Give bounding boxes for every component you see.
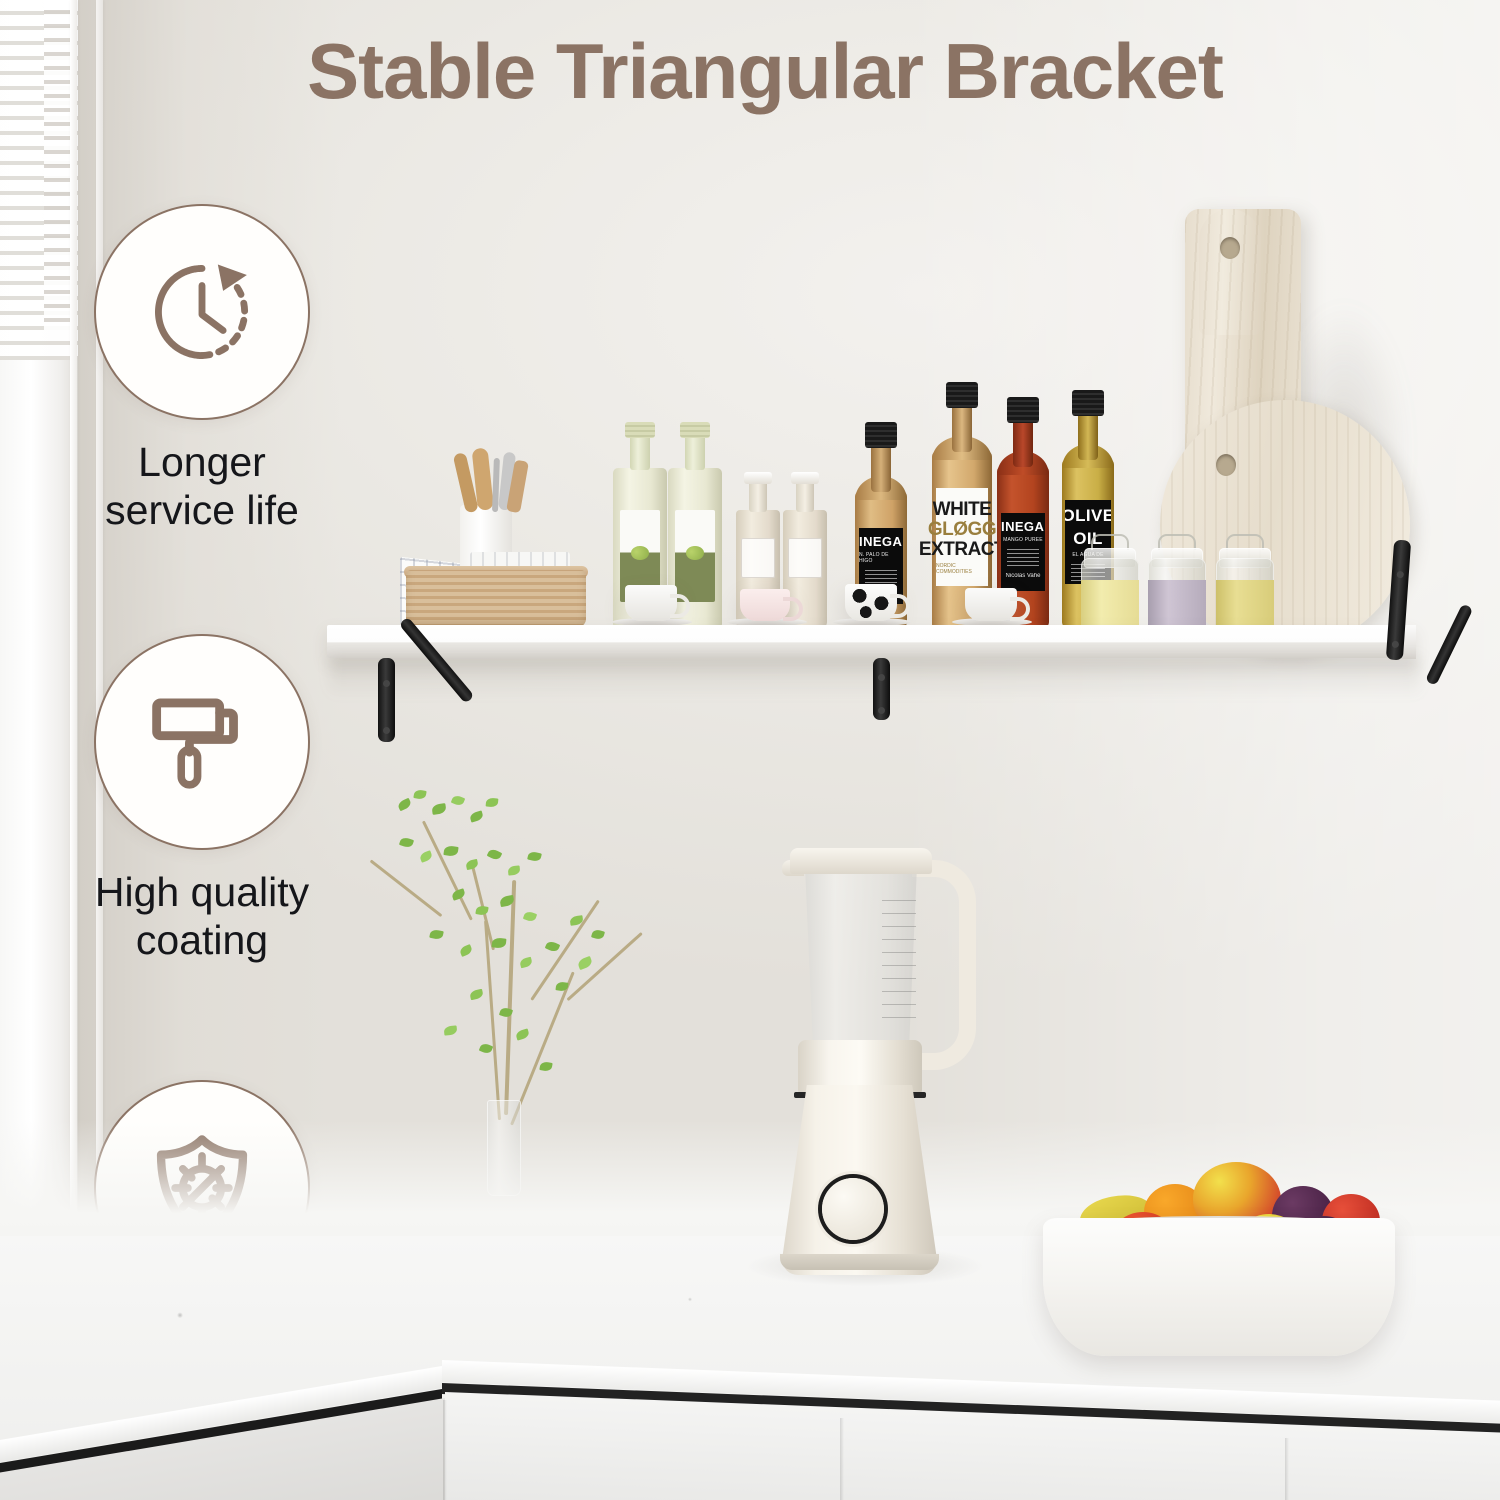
- cabinet-corner-seam: [443, 1400, 447, 1500]
- cup-white: [625, 585, 677, 621]
- bottle-cap: [946, 382, 978, 408]
- bracket-wall-plate: [873, 658, 890, 720]
- label-line-2: GLØGG: [928, 520, 996, 539]
- fruit-bowl: [1043, 1218, 1395, 1356]
- cup-white-2: [965, 588, 1017, 621]
- label-line-1: VINEGAR: [859, 534, 903, 549]
- blender-control-knob[interactable]: [822, 1178, 884, 1240]
- blender-measurement-markings: [882, 900, 916, 1020]
- label-text-lines: [1007, 549, 1039, 567]
- feature-caption-line2: service life: [42, 486, 362, 534]
- bottle-neck: [685, 434, 705, 470]
- window-mullion-2: [96, 0, 103, 1245]
- board-hanging-hole: [1220, 237, 1240, 259]
- feature-badge-circle: [94, 634, 310, 850]
- bottle-label: [675, 510, 715, 602]
- window-mullion: [70, 0, 77, 1245]
- blender-lid: [790, 848, 932, 874]
- bottle-cap: [865, 422, 897, 448]
- blender-foot: [780, 1254, 939, 1270]
- cup-pink: [740, 589, 790, 621]
- cup-polka-dot: [845, 584, 897, 621]
- wicker-basket: [406, 570, 586, 627]
- bottle-cap: [1072, 390, 1104, 416]
- label-line-2: N. PALO DE HIGO: [859, 552, 903, 564]
- label-line-3: EXTRACT: [919, 540, 1005, 559]
- label-line-4: NORDIC COMMODITIES: [936, 563, 988, 575]
- bottle-cap: [680, 422, 710, 438]
- feature-caption-line2: coating: [42, 916, 362, 964]
- bottle-cap: [1007, 397, 1039, 423]
- floating-shelf-board: [327, 625, 1415, 658]
- bottle-label: [788, 538, 822, 578]
- bottle-cap: [744, 472, 772, 484]
- clock-refresh-icon: [136, 246, 268, 378]
- label-line-1: OLIVE: [1065, 506, 1111, 526]
- board-hanging-hole: [1216, 454, 1236, 476]
- blender: [762, 830, 977, 1275]
- label-line-3: Nicolas Vahe: [1006, 573, 1041, 579]
- cabinet-door-seam: [840, 1418, 844, 1500]
- bottle-label: WHITE GLØGG EXTRACT NORDIC COMMODITIES: [936, 488, 988, 586]
- product-scene: Stable Triangular Bracket Longer service…: [0, 0, 1500, 1500]
- bottle-neck: [630, 434, 650, 470]
- bottle-neck: [796, 480, 814, 512]
- paint-roller-icon: [139, 679, 265, 805]
- bottle-cap: [625, 422, 655, 438]
- feature-caption-line1: Longer: [42, 438, 362, 486]
- cabinet-door-seam-2: [1285, 1438, 1289, 1500]
- feature-badge-circle: [94, 204, 310, 420]
- bottle-cap: [791, 472, 819, 484]
- bottle-neck: [749, 480, 767, 512]
- bracket-wall-plate: [378, 658, 395, 742]
- label-line-1: VINEGAR: [1001, 519, 1045, 534]
- feature-longer-service-life: Longer service life: [42, 204, 362, 535]
- blender-handle: [912, 860, 976, 1070]
- bottle-label: [741, 538, 775, 578]
- feature-high-quality-coating: High quality coating: [42, 634, 362, 965]
- bottle-label: VINEGAR MANGO PUREE Nicolas Vahe: [1001, 513, 1045, 591]
- feature-caption: High quality coating: [42, 868, 362, 965]
- feature-caption-line1: High quality: [42, 868, 362, 916]
- label-line-1: WHITE: [933, 500, 992, 519]
- label-line-2: MANGO PUREE: [1003, 537, 1043, 543]
- feature-caption: Longer service life: [42, 438, 362, 535]
- page-title: Stable Triangular Bracket: [120, 26, 1410, 117]
